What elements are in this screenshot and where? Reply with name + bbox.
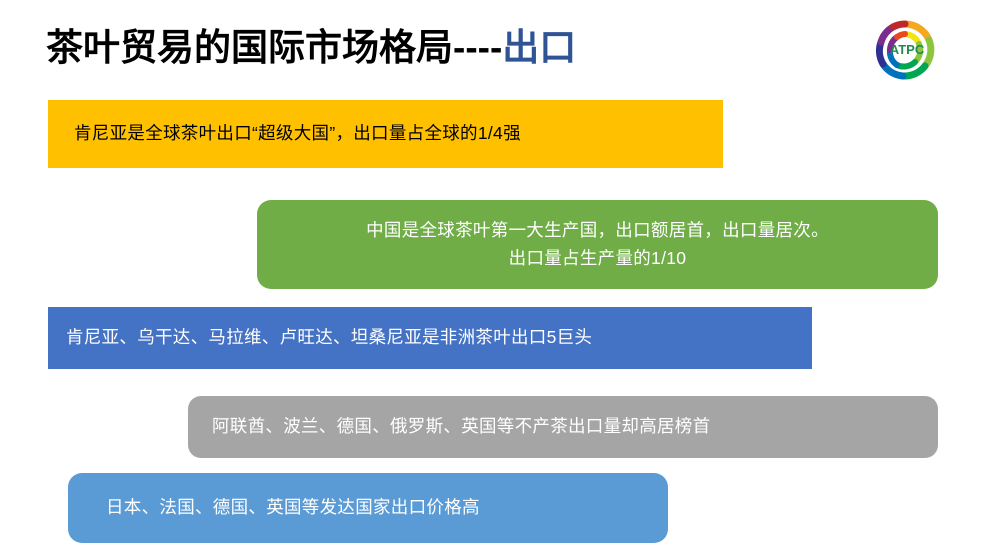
china-largest-producer-band: 中国是全球茶叶第一大生产国，出口额居首，出口量居次。 出口量占生产量的1/10 [257, 200, 938, 289]
atpc-logo-text: ATPC [890, 42, 925, 57]
china-line-1: 中国是全球茶叶第一大生产国，出口额居首，出口量居次。 [279, 217, 916, 244]
page-title: 茶叶贸易的国际市场格局----出口 [46, 22, 806, 76]
kenya-export-superpower-text: 肯尼亚是全球茶叶出口“超级大国”，出口量占全球的1/4强 [74, 120, 697, 147]
china-line-2: 出口量占生产量的1/10 [279, 245, 916, 272]
africa-top5-exporters-band: 肯尼亚、乌干达、马拉维、卢旺达、坦桑尼亚是非洲茶叶出口5巨头 [48, 307, 812, 369]
page-title-accent: 出口 [502, 27, 576, 68]
atpc-logo: ATPC [873, 20, 937, 80]
slide-canvas: 茶叶贸易的国际市场格局----出口 ATPC [0, 0, 989, 556]
non-producing-reexporters-text: 阿联酋、波兰、德国、俄罗斯、英国等不产茶出口量却高居榜首 [212, 413, 914, 440]
non-producing-reexporters-band: 阿联酋、波兰、德国、俄罗斯、英国等不产茶出口量却高居榜首 [188, 396, 938, 458]
page-title-main: 茶叶贸易的国际市场格局---- [46, 27, 502, 68]
kenya-export-superpower-band: 肯尼亚是全球茶叶出口“超级大国”，出口量占全球的1/4强 [48, 100, 723, 168]
africa-top5-exporters-text: 肯尼亚、乌干达、马拉维、卢旺达、坦桑尼亚是非洲茶叶出口5巨头 [66, 324, 794, 351]
developed-countries-high-price-text: 日本、法国、德国、英国等发达国家出口价格高 [106, 494, 630, 521]
developed-countries-high-price-band: 日本、法国、德国、英国等发达国家出口价格高 [68, 473, 668, 543]
china-largest-producer-text: 中国是全球茶叶第一大生产国，出口额居首，出口量居次。 出口量占生产量的1/10 [279, 217, 916, 271]
